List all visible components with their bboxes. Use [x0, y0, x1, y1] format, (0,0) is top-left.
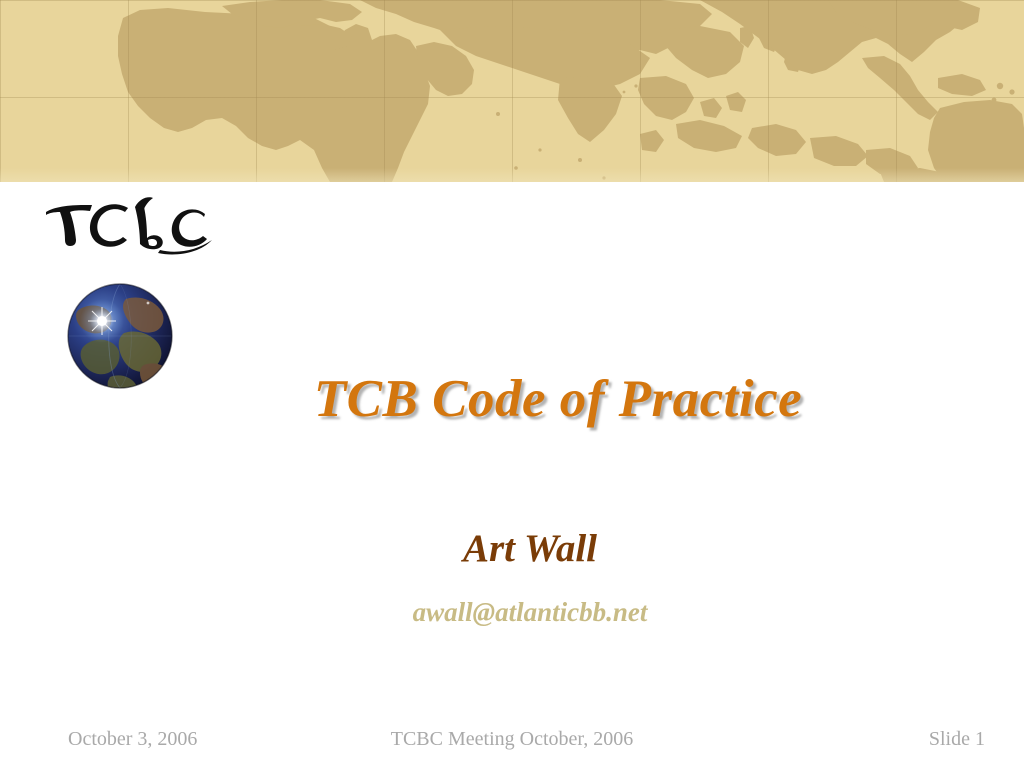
- tcbc-logo: [40, 196, 215, 256]
- title-block: TCB Code of Practice: [180, 372, 936, 428]
- presenter-email: awall@atlanticbb.net: [180, 597, 880, 628]
- slide-footer: October 3, 2006 TCBC Meeting October, 20…: [0, 728, 1024, 760]
- world-map-icon: [0, 0, 1024, 182]
- presentation-slide: TCB Code of Practice Art Wall awall@atla…: [0, 0, 1024, 768]
- footer-slide-number: Slide 1: [0, 728, 1024, 751]
- tcbc-logo-icon: [40, 196, 215, 256]
- email-block: awall@atlanticbb.net: [180, 597, 880, 628]
- header-world-map-banner: [0, 0, 1024, 182]
- subtitle-block: Art Wall: [180, 528, 880, 571]
- page-title: TCB Code of Practice: [180, 372, 936, 428]
- globe-icon: [66, 281, 174, 391]
- presenter-name: Art Wall: [180, 528, 880, 571]
- earth-globe-icon: [66, 281, 174, 391]
